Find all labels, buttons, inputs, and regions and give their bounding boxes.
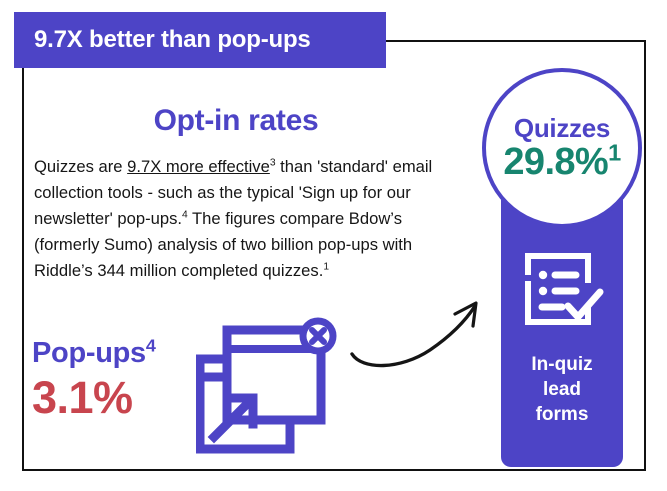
- popups-stat-label: Pop-ups4: [32, 336, 156, 370]
- quizzes-stat-value: 29.8%1: [503, 141, 620, 183]
- in-quiz-caption: In-quiz lead forms: [501, 352, 623, 427]
- banner: 9.7X better than pop-ups: [14, 12, 386, 68]
- popup-window-icon: [196, 312, 348, 460]
- caption-line-3: forms: [501, 402, 623, 427]
- banner-title: 9.7X better than pop-ups: [34, 26, 311, 54]
- quizzes-value-text: 29.8%: [503, 141, 608, 183]
- quizzes-footnote-ref: 1: [608, 139, 621, 165]
- paragraph-underlined-phrase: 9.7X more effective: [127, 157, 270, 176]
- infographic-root: 9.7X better than pop-ups Opt-in rates Qu…: [0, 0, 667, 491]
- footnote-ref-1: 1: [323, 261, 329, 272]
- quizzes-stat-circle: Quizzes 29.8%1: [482, 68, 642, 228]
- paragraph-part-1: Quizzes are: [34, 157, 127, 176]
- body-paragraph: Quizzes are 9.7X more effective3 than 's…: [34, 154, 438, 284]
- popups-stat-value: 3.1%: [32, 372, 156, 424]
- curved-arrow-icon: [342, 286, 508, 384]
- checklist-form-icon: [518, 250, 606, 332]
- page-title: Opt-in rates: [36, 104, 436, 138]
- caption-line-2: lead: [501, 377, 623, 402]
- quizzes-stat-label: Quizzes: [514, 113, 610, 143]
- popups-label-text: Pop-ups: [32, 337, 146, 369]
- popups-stat-block: Pop-ups4 3.1%: [32, 336, 156, 424]
- popups-footnote-ref: 4: [146, 335, 156, 355]
- caption-line-1: In-quiz: [501, 352, 623, 377]
